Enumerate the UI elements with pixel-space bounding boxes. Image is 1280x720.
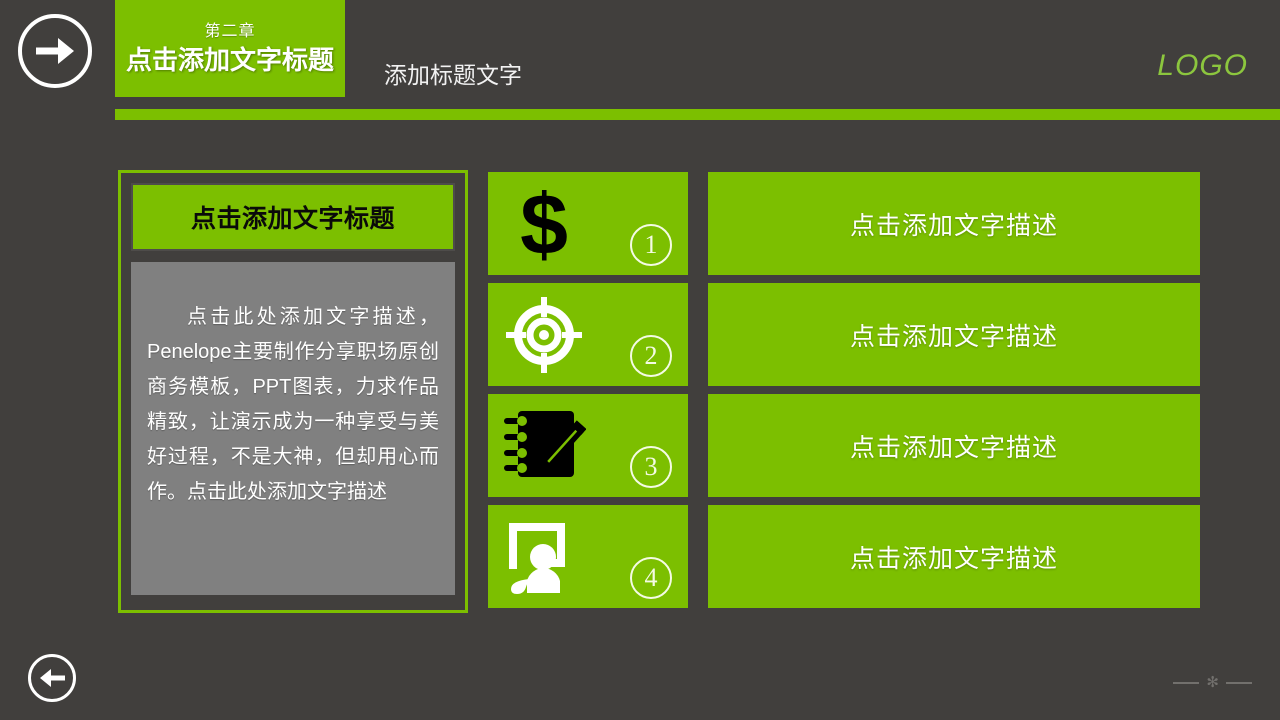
step-number-3: 3: [630, 446, 672, 488]
target-crosshair-icon: [502, 293, 586, 377]
description-bar-2[interactable]: 点击添加文字描述: [708, 283, 1200, 386]
left-panel-title: 点击添加文字标题: [191, 199, 395, 235]
step-number-1: 1: [630, 224, 672, 266]
icon-tile-1[interactable]: $ 1: [488, 172, 688, 275]
arrow-left-circle-icon: [31, 657, 73, 699]
logo: LOGO: [1157, 51, 1248, 81]
ornament-star-icon: ✻: [1206, 675, 1219, 690]
left-panel-body-box[interactable]: 点击此处添加文字描述，Penelope主要制作分享职场原创商务模板，PPT图表，…: [131, 262, 455, 595]
presenter-board-icon: [502, 515, 586, 599]
header-subtitle: 添加标题文字: [384, 64, 522, 87]
icon-tile-3[interactable]: 3: [488, 394, 688, 497]
description-text-4: 点击添加文字描述: [850, 539, 1058, 575]
dollar-sign-icon: $: [502, 182, 586, 266]
left-panel-title-box[interactable]: 点击添加文字标题: [131, 183, 455, 251]
next-slide-button[interactable]: [18, 14, 92, 88]
description-bar-1[interactable]: 点击添加文字描述: [708, 172, 1200, 275]
step-number-4: 4: [630, 557, 672, 599]
chapter-title: 点击添加文字标题: [126, 47, 334, 73]
chapter-kicker: 第二章: [204, 24, 255, 40]
header-accent-rule: [115, 109, 1280, 120]
description-text-3: 点击添加文字描述: [850, 428, 1058, 464]
icon-tile-4[interactable]: 4: [488, 505, 688, 608]
description-bar-4[interactable]: 点击添加文字描述: [708, 505, 1200, 608]
notebook-pencil-icon: [502, 404, 586, 488]
description-text-2: 点击添加文字描述: [850, 317, 1058, 353]
description-bar-3[interactable]: 点击添加文字描述: [708, 394, 1200, 497]
previous-slide-button[interactable]: [28, 654, 76, 702]
description-column: 点击添加文字描述 点击添加文字描述 点击添加文字描述 点击添加文字描述: [708, 172, 1200, 608]
icon-column: $ 1 2: [488, 172, 688, 608]
step-number-2: 2: [630, 335, 672, 377]
svg-text:$: $: [520, 182, 568, 266]
description-text-1: 点击添加文字描述: [850, 206, 1058, 242]
slide-canvas: 第二章 点击添加文字标题 添加标题文字 LOGO 点击添加文字标题 点击此处添加…: [0, 0, 1280, 720]
arrow-right-circle-icon: [22, 18, 88, 84]
ornament-dash-right: [1226, 682, 1252, 684]
icon-tile-2[interactable]: 2: [488, 283, 688, 386]
ornament-dash-left: [1173, 682, 1199, 684]
footer-ornament: ✻: [1173, 675, 1252, 690]
left-panel-body-text: 点击此处添加文字描述，Penelope主要制作分享职场原创商务模板，PPT图表，…: [147, 300, 439, 510]
left-text-panel[interactable]: 点击添加文字标题 点击此处添加文字描述，Penelope主要制作分享职场原创商务…: [118, 170, 468, 613]
chapter-title-box[interactable]: 第二章 点击添加文字标题: [115, 0, 345, 97]
